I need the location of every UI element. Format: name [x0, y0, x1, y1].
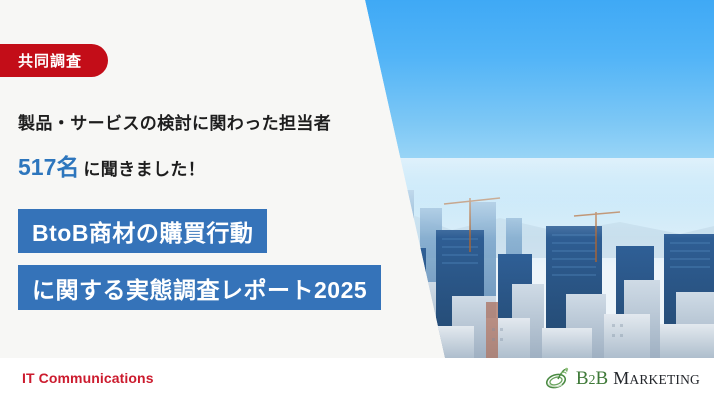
logo-marketing-cap: M [613, 368, 629, 388]
logo-b-2: B [596, 368, 609, 389]
it-communications-brand: IT Communications [22, 370, 154, 386]
logo-2: 2 [589, 373, 596, 388]
b2b-marketing-logo: B2B MARKETING [545, 366, 700, 390]
report-cover-slide: 共同調査 製品・サービスの検討に関わった担当者 517名 に聞きました！ Bto… [0, 0, 714, 400]
lead-line-2-rest: に聞きました！ [83, 155, 205, 180]
lead-line-1: 製品・サービスの検討に関わった担当者 [18, 109, 331, 134]
logo-wordmark-marketing: MARKETING [613, 369, 700, 387]
title-band-1: BtoB商材の購買行動 [18, 209, 267, 253]
joint-survey-badge: 共同調査 [0, 44, 108, 77]
title-band-2: に関する実態調査レポート2025 [18, 265, 381, 310]
logo-b: B [576, 368, 589, 389]
logo-marketing-rest: ARKETING [629, 372, 700, 387]
logo-wordmark-b2b: B2B [576, 369, 608, 388]
respondent-count: 517名 [18, 148, 79, 182]
b2b-swirl-icon [545, 366, 571, 390]
lead-line-2: 517名 に聞きました！ [18, 148, 205, 182]
footer-bar: IT Communications B2B MARKETING [0, 358, 714, 400]
